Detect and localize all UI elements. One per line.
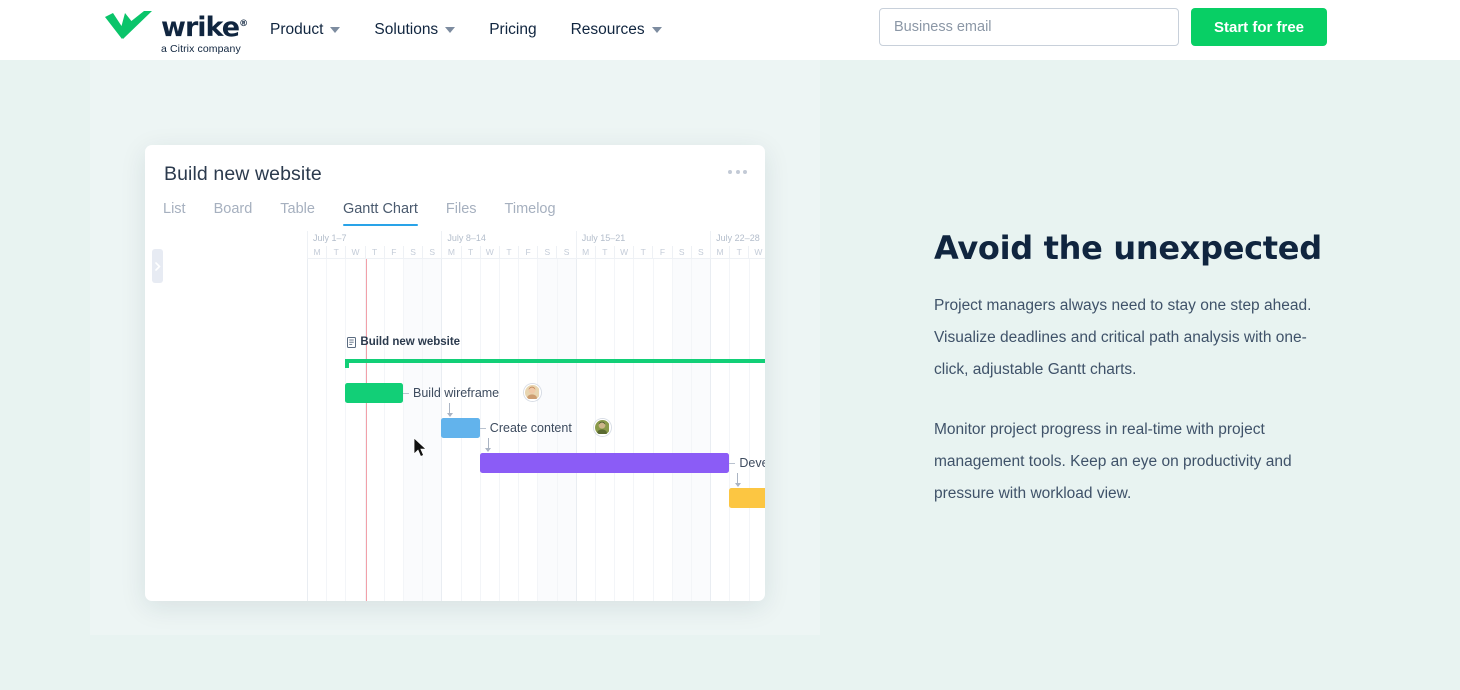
week-label: July 1–7	[307, 231, 441, 246]
summary-task-label: Build new website	[347, 336, 460, 348]
nav-item-resources[interactable]: Resources	[571, 21, 678, 39]
tab-list[interactable]: List	[163, 201, 200, 226]
today-marker	[366, 259, 367, 601]
day-label: T	[499, 246, 518, 259]
grid-column	[307, 259, 326, 601]
nav-item-pricing-label: Pricing	[489, 21, 536, 39]
wrike-checkmark-icon	[103, 9, 155, 43]
day-label: S	[537, 246, 556, 259]
logo-word-text: wrike	[161, 12, 239, 43]
timeline-week-header: July 1–7July 8–14July 15–21July 22–28	[145, 231, 765, 246]
day-label: W	[345, 246, 364, 259]
grid-column	[384, 259, 403, 601]
wrike-logo[interactable]: wrike® a Citrix company	[103, 9, 247, 55]
page-title: Avoid the unexpected	[934, 228, 1334, 268]
nav-item-product[interactable]: Product	[270, 21, 356, 39]
day-label: M	[441, 246, 460, 259]
chevron-down-icon	[445, 27, 455, 33]
day-label: M	[710, 246, 729, 259]
summary-bar[interactable]	[345, 359, 765, 368]
day-label: T	[326, 246, 345, 259]
day-label: S	[672, 246, 691, 259]
tab-table[interactable]: Table	[266, 201, 329, 226]
tab-gantt-chart[interactable]: Gantt Chart	[329, 201, 432, 226]
day-label: S	[403, 246, 422, 259]
week-label: July 22–28	[710, 231, 765, 246]
grid-column	[365, 259, 384, 601]
nav-item-resources-label: Resources	[571, 21, 645, 39]
grid-column	[672, 259, 691, 601]
timeline-day-header: MTWTFSSMTWTFSSMTWTFSSMTWTFSSMT	[145, 246, 765, 259]
grid-column	[633, 259, 652, 601]
task-bar[interactable]	[480, 453, 730, 473]
week-label: July 8–14	[441, 231, 575, 246]
chevron-right-glyph	[155, 262, 161, 271]
grid-column	[729, 259, 748, 601]
day-label: S	[691, 246, 710, 259]
gantt-timeline[interactable]: July 1–7July 8–14July 15–21July 22–28 MT…	[145, 231, 765, 601]
day-label: T	[461, 246, 480, 259]
start-for-free-button[interactable]: Start for free	[1191, 8, 1327, 46]
nav-item-solutions[interactable]: Solutions	[374, 21, 471, 39]
business-email-input[interactable]	[879, 8, 1179, 46]
nav-item-pricing[interactable]: Pricing	[489, 21, 552, 39]
grid-column	[422, 259, 441, 601]
grid-column	[326, 259, 345, 601]
grid-column	[653, 259, 672, 601]
document-icon	[347, 337, 356, 348]
day-label: F	[518, 246, 537, 259]
day-label: W	[480, 246, 499, 259]
tab-timelog[interactable]: Timelog	[491, 201, 570, 226]
mouse-cursor-icon	[413, 437, 429, 459]
copy-paragraph-2: Monitor project progress in real-time wi…	[934, 414, 1332, 510]
tab-files[interactable]: Files	[432, 201, 491, 226]
grid-column	[614, 259, 633, 601]
avatar-photo	[525, 385, 539, 399]
task-label: Develop pages	[739, 453, 765, 473]
day-label: S	[422, 246, 441, 259]
grid-column	[403, 259, 422, 601]
card-title: Build new website	[164, 163, 322, 186]
nav-links: Product Solutions Pricing Resources	[270, 0, 678, 60]
grid-column	[749, 259, 765, 601]
logo-tagline: a Citrix company	[161, 43, 247, 55]
day-label: T	[729, 246, 748, 259]
day-label: W	[748, 246, 765, 259]
day-label: T	[633, 246, 652, 259]
day-label: T	[595, 246, 614, 259]
logo-trademark: ®	[239, 19, 247, 29]
task-bar[interactable]	[441, 418, 479, 438]
grid-column	[576, 259, 595, 601]
task-bar[interactable]	[345, 383, 403, 403]
day-label: M	[576, 246, 595, 259]
day-label: F	[384, 246, 403, 259]
gantt-chart-card: Build new website List Board Table Gantt…	[145, 145, 765, 601]
nav-item-product-label: Product	[270, 21, 323, 39]
top-navigation-bar: wrike® a Citrix company Product Solution…	[0, 0, 1460, 60]
summary-task-label-text: Build new website	[360, 336, 460, 348]
day-label: S	[556, 246, 575, 259]
week-label: July 15–21	[576, 231, 710, 246]
grid-column	[691, 259, 710, 601]
day-label: W	[614, 246, 633, 259]
grid-column	[345, 259, 364, 601]
hero-copy: Avoid the unexpected Project managers al…	[934, 228, 1334, 510]
task-label: Build wireframe	[413, 383, 499, 403]
avatar-photo	[595, 420, 609, 434]
day-label: T	[365, 246, 384, 259]
grid-column	[710, 259, 729, 601]
chevron-down-icon	[652, 27, 662, 33]
avatar[interactable]	[524, 384, 541, 401]
nav-item-solutions-label: Solutions	[374, 21, 438, 39]
tab-board[interactable]: Board	[200, 201, 267, 226]
day-label: F	[652, 246, 671, 259]
task-connector-stub	[403, 393, 409, 394]
avatar[interactable]	[594, 419, 611, 436]
copy-paragraph-1: Project managers always need to stay one…	[934, 290, 1332, 386]
wrike-wordmark: wrike® a Citrix company	[161, 10, 247, 55]
chevron-down-icon	[330, 27, 340, 33]
task-label: Create content	[490, 418, 572, 438]
task-connector-stub	[729, 463, 735, 464]
card-tabs: List Board Table Gantt Chart Files Timel…	[163, 201, 570, 226]
chevron-right-icon[interactable]	[152, 249, 163, 283]
ellipsis-icon[interactable]	[728, 170, 747, 174]
task-connector-stub	[480, 428, 486, 429]
day-label: M	[307, 246, 326, 259]
task-bar[interactable]	[729, 488, 765, 508]
